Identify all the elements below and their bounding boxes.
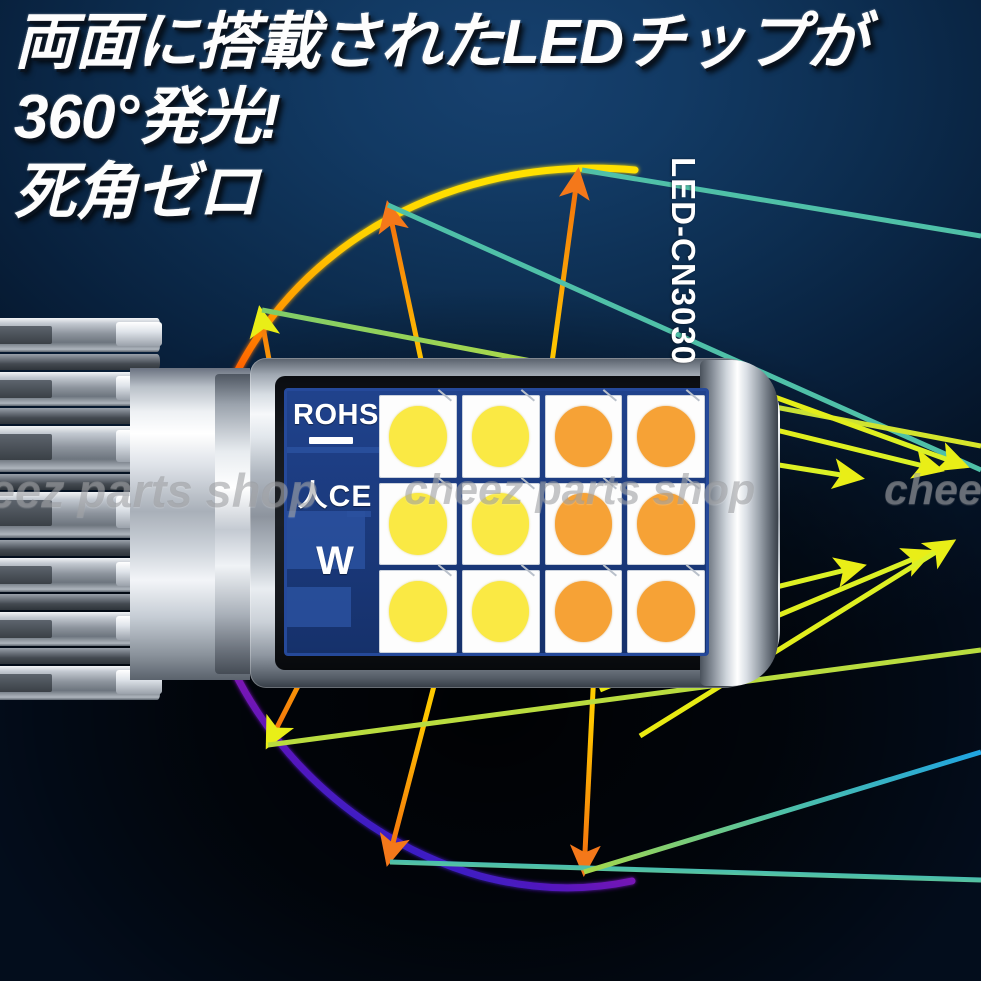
headline-line-2: 360°発光! (14, 80, 974, 155)
led-chip-emitter-yellow (389, 406, 447, 467)
led-bulb-product: ROHS 人CE W LED-CN3030 (0, 330, 820, 730)
pcb-certification-marks: ROHS 人CE W (293, 395, 377, 651)
headline-line-1: 両面に搭載されたLEDチップが (14, 5, 974, 80)
led-chip-emitter-orange (637, 406, 695, 467)
led-chip (627, 483, 705, 566)
led-chip (379, 483, 457, 566)
led-chip (545, 483, 623, 566)
led-chip-emitter-orange (637, 493, 695, 554)
product-image: ROHS 人CE W LED-CN3030 cheez parts shop c… (0, 0, 981, 981)
led-chip (627, 395, 705, 478)
led-chip-emitter-orange (555, 493, 613, 554)
led-chip (462, 395, 540, 478)
headline-block: 両面に搭載されたLEDチップが 360°発光! 死角ゼロ (14, 5, 974, 230)
led-chip (379, 395, 457, 478)
led-chip-grid (379, 395, 705, 653)
led-chip-emitter-yellow (472, 406, 530, 467)
led-chip-emitter-orange (555, 581, 613, 642)
headline-line-3: 死角ゼロ (14, 155, 974, 230)
led-chip-emitter-yellow (472, 493, 530, 554)
led-chip (379, 570, 457, 653)
w-mark: W (293, 539, 377, 584)
led-chip-emitter-yellow (389, 581, 447, 642)
led-chip (545, 570, 623, 653)
bulb-endcap (700, 360, 778, 686)
ce-mark: 人CE (293, 471, 377, 515)
led-chip-emitter-orange (637, 581, 695, 642)
led-chip (627, 570, 705, 653)
led-chip-emitter-yellow (472, 581, 530, 642)
rohs-underline (309, 437, 353, 444)
led-chip-emitter-yellow (389, 493, 447, 554)
led-chip-emitter-orange (555, 406, 613, 467)
rohs-mark: ROHS (293, 399, 377, 432)
led-chip (462, 570, 540, 653)
led-chip (545, 395, 623, 478)
led-pcb: ROHS 人CE W LED-CN3030 (284, 388, 709, 656)
led-chip (462, 483, 540, 566)
